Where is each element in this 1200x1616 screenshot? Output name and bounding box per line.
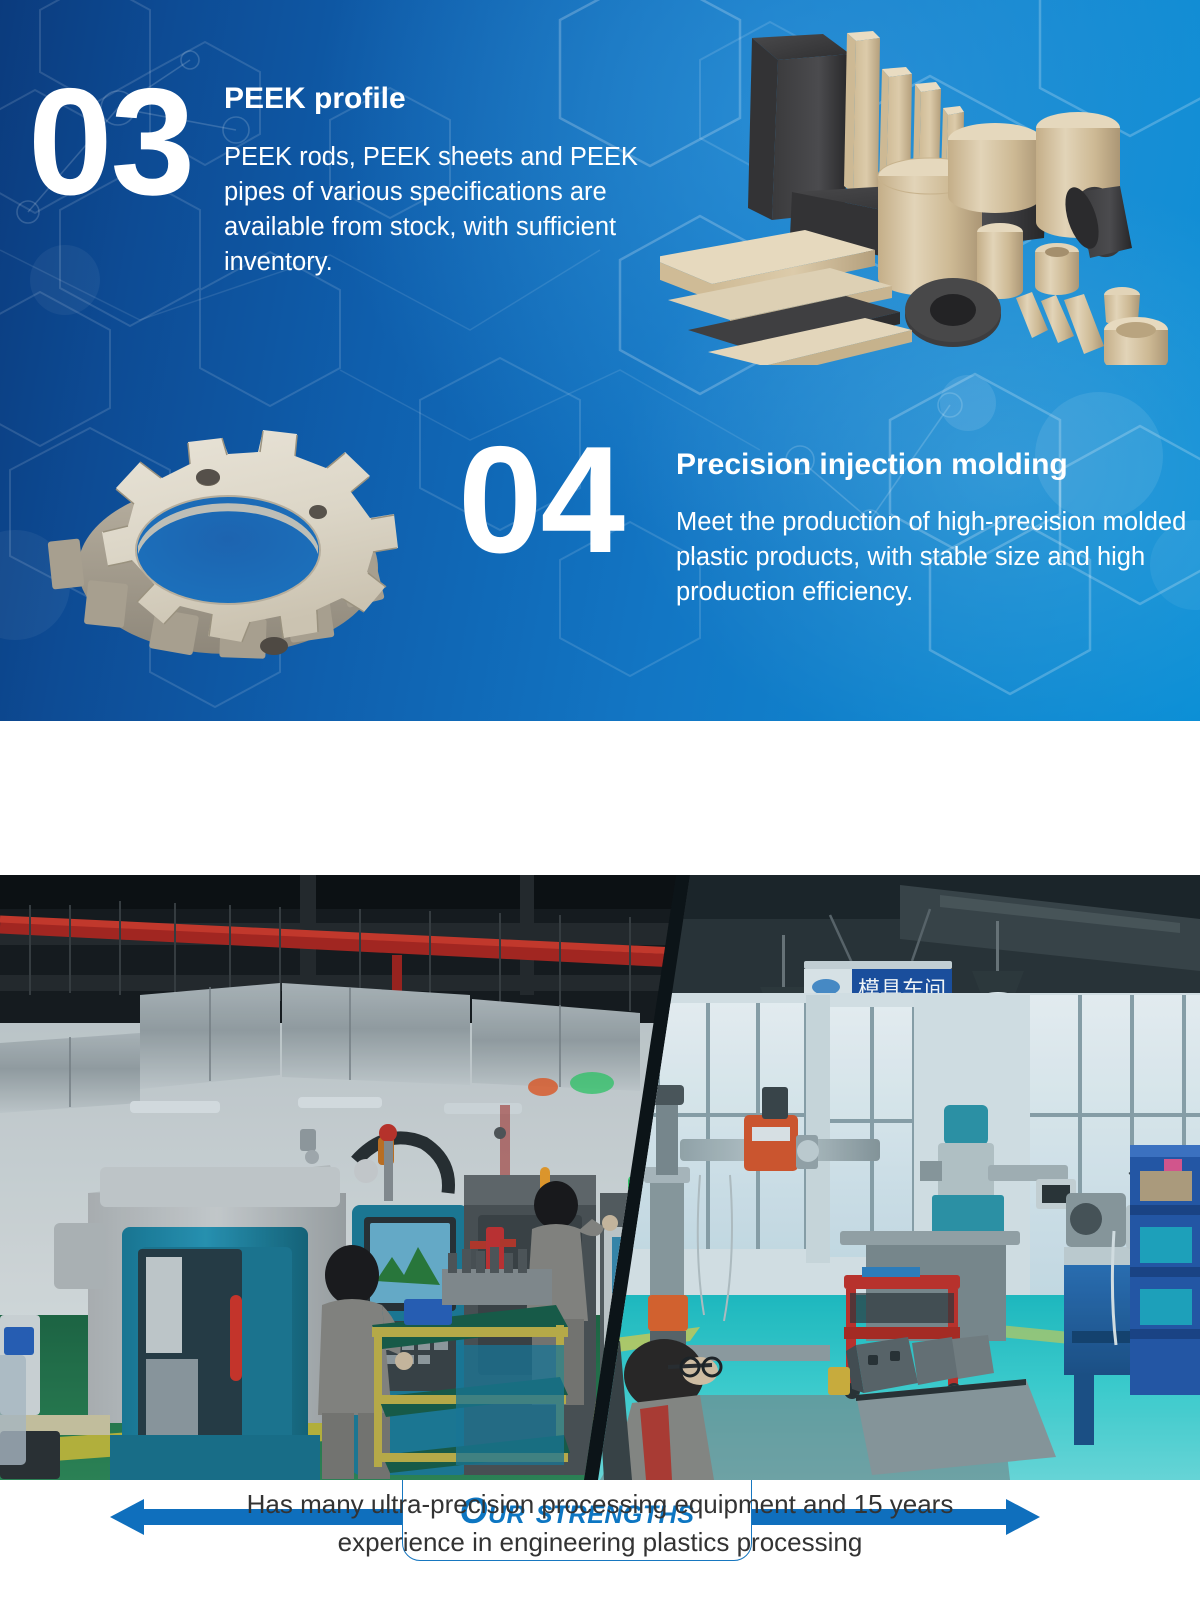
bottom-caption: Has many ultra-precision processing equi… bbox=[0, 1485, 1200, 1561]
caption-line-2: experience in engineering plastics proce… bbox=[0, 1523, 1200, 1561]
our-strengths-banner: Our strengths bbox=[0, 721, 1200, 875]
gear-ring-illustration bbox=[20, 400, 440, 700]
cnc-workshop-photo: OM bbox=[0, 875, 676, 1480]
peek-rod-medium bbox=[948, 123, 1042, 213]
cnc-workshop-illustration: OM bbox=[0, 875, 676, 1480]
decorative-circle bbox=[940, 375, 996, 431]
peek-gear-ring-image bbox=[20, 400, 440, 700]
features-blue-panel: 03 PEEK profile PEEK rods, PEEK sheets a… bbox=[0, 0, 1200, 721]
feature-heading-04: Precision injection molding bbox=[676, 448, 1068, 482]
feature-number-04: 04 bbox=[458, 436, 623, 565]
peek-tube-short bbox=[1035, 243, 1079, 295]
peek-shapes-illustration bbox=[660, 0, 1200, 365]
peek-thin-rods bbox=[1016, 292, 1104, 354]
peek-sheets-stack bbox=[660, 230, 912, 365]
feature-body-04: Meet the production of high-precision mo… bbox=[676, 505, 1196, 610]
factory-photos-collage: OM bbox=[0, 875, 1200, 1480]
feature-body-03: PEEK rods, PEEK sheets and PEEK pipes of… bbox=[224, 140, 664, 280]
feature-heading-03: PEEK profile bbox=[224, 82, 406, 116]
peek-black-ring bbox=[905, 278, 1001, 347]
feature-number-03: 03 bbox=[28, 78, 193, 207]
decorative-circle bbox=[30, 245, 100, 315]
peek-pipe-cups bbox=[1104, 287, 1168, 365]
caption-line-1: Has many ultra-precision processing equi… bbox=[0, 1485, 1200, 1523]
peek-profile-product-image bbox=[660, 0, 1200, 365]
